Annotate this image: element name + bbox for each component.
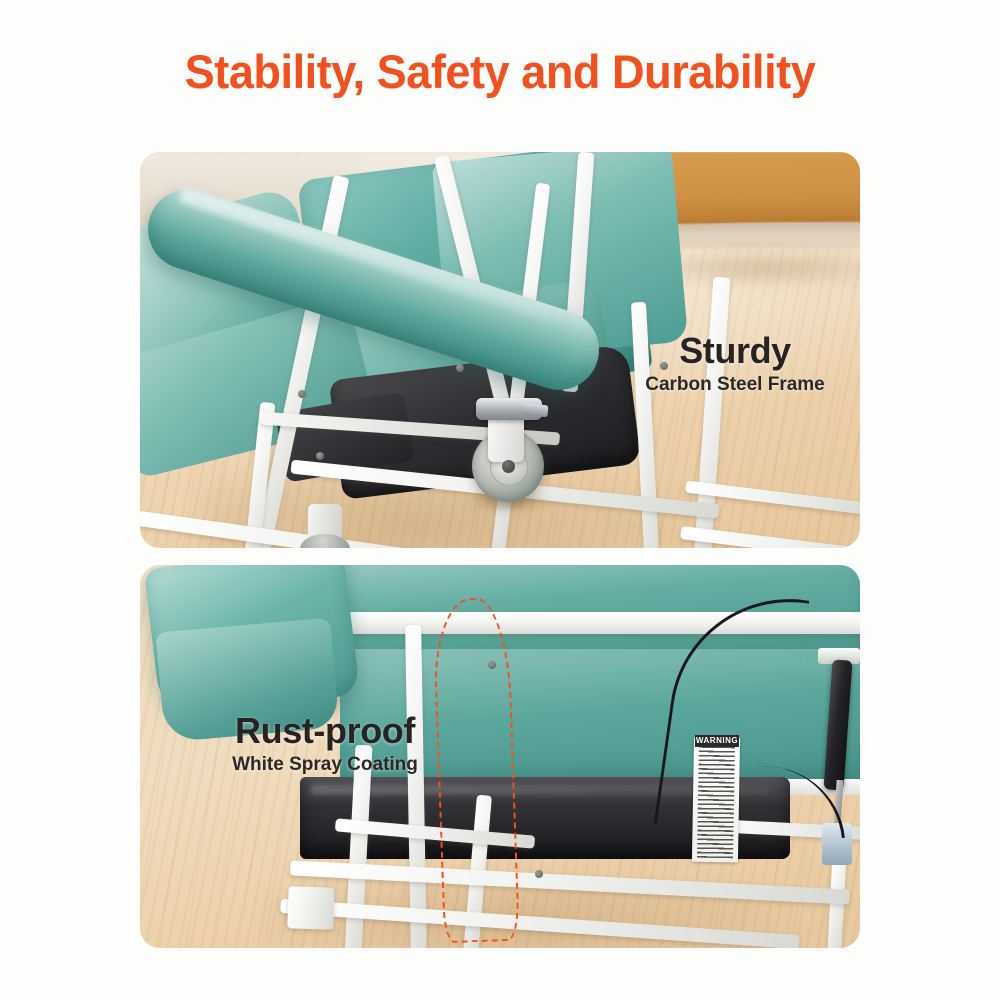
frame-corner-bracket xyxy=(287,886,334,930)
caption-sturdy: Sturdy Carbon Steel Frame xyxy=(600,332,860,400)
feature-panel-sturdy: Sturdy Carbon Steel Frame xyxy=(140,152,860,548)
frame-bolt xyxy=(488,661,496,669)
frame-bolt xyxy=(298,390,306,398)
caption-rust-proof-subtitle: White Spray Coating xyxy=(175,750,475,780)
warning-label-header: WARNING xyxy=(695,735,739,747)
caster-axle-bolt xyxy=(502,460,515,473)
product-feature-image: Stability, Safety and Durability xyxy=(0,0,1000,1000)
frame-bolt xyxy=(316,452,324,460)
caption-sturdy-title: Sturdy xyxy=(600,332,860,370)
frame-bolt xyxy=(456,364,464,372)
caption-sturdy-subtitle: Carbon Steel Frame xyxy=(600,370,860,400)
caption-rust-proof-title: Rust-proof xyxy=(175,712,475,750)
warning-label-sticker xyxy=(692,738,740,863)
warning-label-text-lines xyxy=(697,742,735,859)
page-title: Stability, Safety and Durability xyxy=(20,46,980,98)
caster-brake-lever xyxy=(521,403,548,418)
caption-rust-proof: Rust-proof White Spray Coating xyxy=(175,712,475,780)
frame-bolt xyxy=(535,870,543,878)
